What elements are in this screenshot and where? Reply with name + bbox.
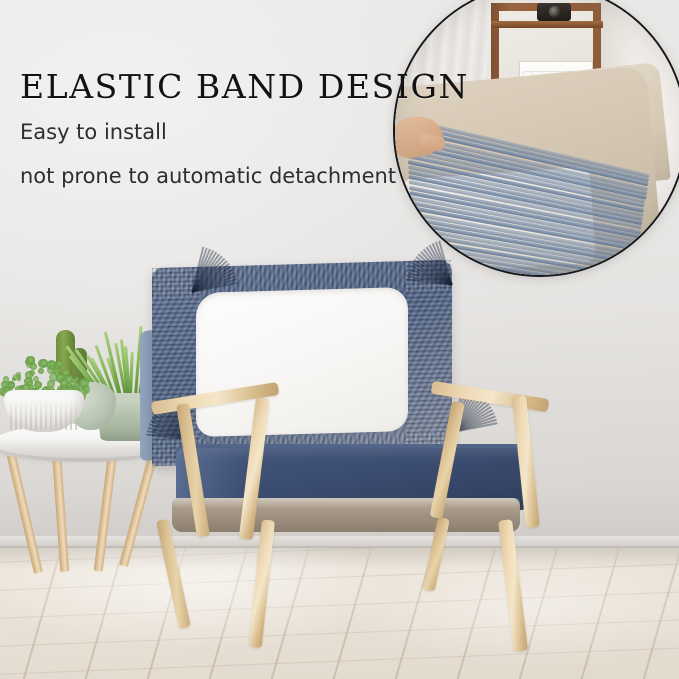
back-cushion-with-slipcover	[152, 260, 452, 466]
foliage-leaf	[33, 376, 39, 382]
pot-rib	[10, 400, 12, 430]
foliage-leaf	[26, 356, 35, 365]
page-title: ELASTIC BAND DESIGN	[20, 69, 469, 105]
pot-rib	[20, 400, 22, 430]
pot-rib	[30, 400, 32, 430]
pot-rib	[65, 400, 67, 430]
pot-rib	[55, 400, 57, 430]
product-marketing-image: ELASTIC BAND DESIGN Easy to install not …	[0, 0, 679, 679]
back-cushion-inner-panel	[196, 287, 408, 437]
pot-rib	[45, 400, 47, 430]
subtitle-line-2: not prone to automatic detachment	[20, 163, 396, 189]
pot-rib	[40, 400, 42, 430]
pot-rib	[60, 400, 62, 430]
pot-rib	[25, 400, 27, 430]
pot-rib	[75, 400, 77, 430]
foliage-leaf	[25, 371, 33, 379]
pot-rib	[50, 400, 52, 430]
subtitle-line-1: Easy to install	[20, 119, 167, 145]
foliage-leaf	[49, 361, 55, 367]
elastic-ruche-right	[406, 260, 452, 459]
inset-circle-detail	[393, 0, 679, 277]
chair-base-highlight	[172, 498, 520, 508]
pot-rib	[15, 400, 17, 430]
pot-rib	[35, 400, 37, 430]
foliage-leaf	[27, 381, 33, 387]
pot-rib	[70, 400, 72, 430]
